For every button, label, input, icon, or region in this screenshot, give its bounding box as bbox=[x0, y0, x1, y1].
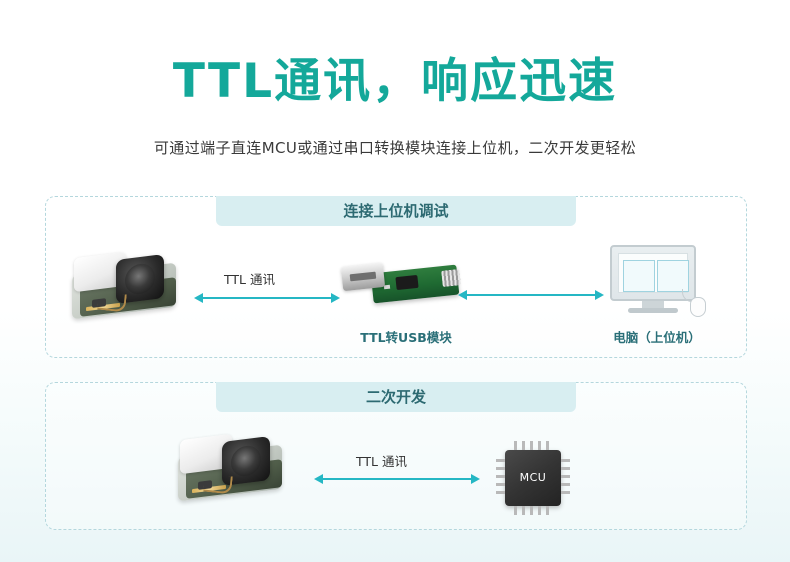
mcu-pin bbox=[530, 441, 533, 450]
panel-host-debug: 连接上位机调试 TTL 通讯 TTL转USB模块 bbox=[45, 196, 747, 358]
mcu-pin bbox=[561, 491, 570, 494]
mcu-pin bbox=[561, 467, 570, 470]
sensor-module-image-2 bbox=[176, 431, 296, 501]
ttl-to-usb-module-image bbox=[338, 257, 470, 317]
mcu-chip-image: MCU bbox=[496, 441, 570, 515]
arrow-label-ttl-left: TTL 通讯 bbox=[224, 269, 275, 288]
mcu-pin bbox=[561, 475, 570, 478]
panel-secondary-development: 二次开发 TTL 通讯 MCU bbox=[45, 382, 747, 530]
monitor-screen-content bbox=[618, 253, 688, 293]
caption-ttl-to-usb-module: TTL转USB模块 bbox=[346, 327, 466, 346]
mcu-pin bbox=[496, 491, 505, 494]
arrow-usb-to-pc bbox=[466, 294, 596, 296]
sensor-module-image bbox=[70, 249, 190, 319]
monitor-base bbox=[628, 308, 678, 313]
caption-computer: 电脑（上位机） bbox=[592, 327, 722, 346]
usb-header-pins bbox=[441, 269, 461, 287]
mcu-pin bbox=[514, 506, 517, 515]
mcu-pin bbox=[538, 506, 541, 515]
mcu-pin bbox=[496, 459, 505, 462]
page-root: TTL通讯，响应迅速 可通过端子直连MCU或通过串口转换模块连接上位机，二次开发… bbox=[0, 0, 790, 562]
arrow-label-ttl-mcu: TTL 通讯 bbox=[356, 451, 407, 470]
page-subtitle: 可通过端子直连MCU或通过串口转换模块连接上位机，二次开发更轻松 bbox=[0, 137, 790, 158]
mcu-pin bbox=[530, 506, 533, 515]
panel-title-host-debug: 连接上位机调试 bbox=[216, 196, 576, 226]
mcu-pin bbox=[561, 483, 570, 486]
usb-connector-shell bbox=[341, 263, 385, 291]
mcu-pin bbox=[496, 483, 505, 486]
arrow-ttl-left bbox=[202, 297, 332, 299]
usb-chip bbox=[395, 275, 418, 290]
sensor-wire bbox=[203, 474, 233, 495]
mcu-pin bbox=[496, 467, 505, 470]
mouse-icon bbox=[690, 297, 706, 317]
arrow-ttl-mcu bbox=[322, 478, 472, 480]
mcu-pin bbox=[522, 506, 525, 515]
mcu-pin bbox=[546, 441, 549, 450]
mcu-pin bbox=[496, 475, 505, 478]
mcu-pin bbox=[546, 506, 549, 515]
sensor-wire bbox=[97, 292, 127, 313]
mcu-pin bbox=[538, 441, 541, 450]
usb-led bbox=[384, 285, 390, 290]
mcu-pin bbox=[561, 459, 570, 462]
computer-image bbox=[602, 245, 712, 323]
screen-window-left bbox=[623, 260, 655, 292]
mcu-pin bbox=[514, 441, 517, 450]
screen-window-right bbox=[657, 260, 689, 292]
page-title: TTL通讯，响应迅速 bbox=[0, 0, 790, 111]
mcu-chip-label: MCU bbox=[505, 450, 561, 506]
panel-title-secondary-development: 二次开发 bbox=[216, 382, 576, 412]
mcu-pin bbox=[522, 441, 525, 450]
